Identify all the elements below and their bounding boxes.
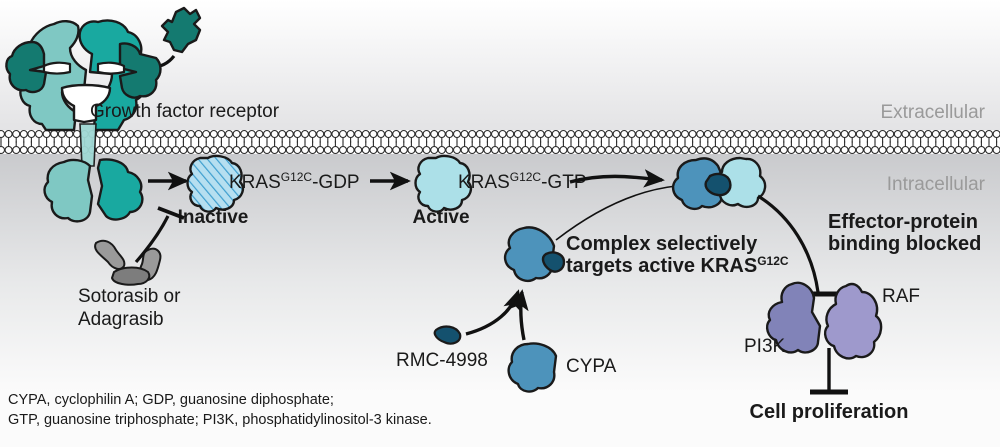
label-complex-line2: targets active KRASG12C <box>566 254 789 277</box>
label-growth-factor-receptor: Growth factor receptor <box>90 101 280 122</box>
label-inactive: Inactive <box>178 207 249 228</box>
tri-complex-at-membrane <box>673 158 765 209</box>
label-intracellular: Intracellular <box>887 174 986 195</box>
label-effector-line2: binding blocked <box>828 233 981 255</box>
label-pi3k: PI3K <box>744 336 786 357</box>
label-raf: RAF <box>882 286 920 307</box>
pathway-diagram: Extracellular Intracellular Growth facto… <box>0 0 1000 447</box>
footnote-line-1: CYPA, cyclophilin A; GDP, guanosine diph… <box>8 392 334 408</box>
label-adagrasib: Adagrasib <box>78 309 164 330</box>
label-sotorasib: Sotorasib or <box>78 286 181 307</box>
figure-canvas: Extracellular Intracellular Growth facto… <box>0 0 1000 447</box>
label-effector-line1: Effector-protein <box>828 211 978 233</box>
label-extracellular: Extracellular <box>880 102 985 123</box>
plasma-membrane <box>0 130 1000 154</box>
label-cell-proliferation: Cell proliferation <box>750 401 909 423</box>
label-rmc-4998: RMC-4998 <box>396 350 488 371</box>
label-active: Active <box>412 207 469 228</box>
label-complex-line1: Complex selectively <box>566 233 758 255</box>
label-cypa: CYPA <box>566 356 617 377</box>
footnote-line-2: GTP, guanosine triphosphate; PI3K, phosp… <box>8 412 432 428</box>
